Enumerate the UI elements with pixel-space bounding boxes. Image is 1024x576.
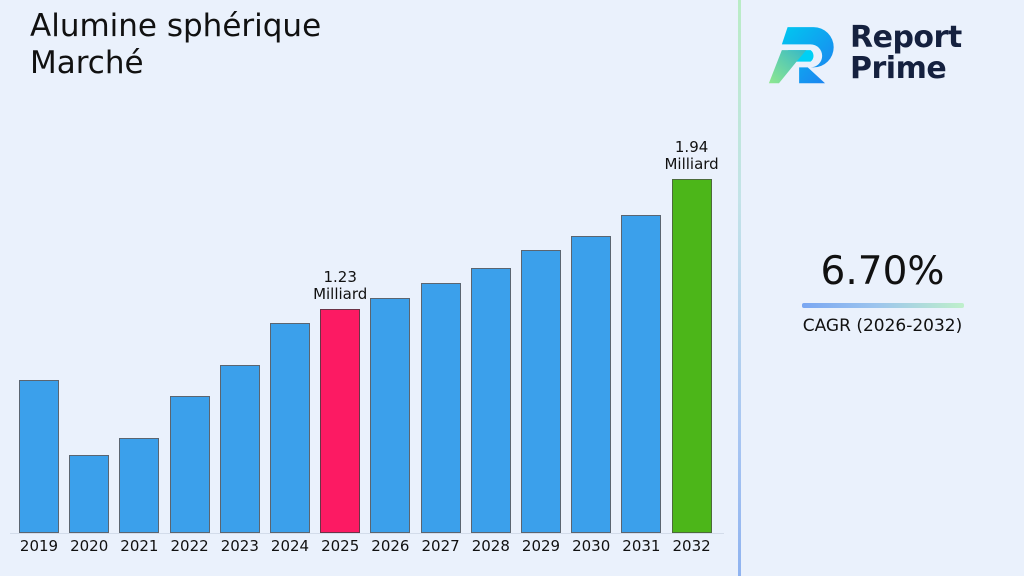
bar-2028[interactable]	[471, 268, 511, 533]
x-axis-label-2029: 2029	[521, 537, 561, 555]
infographic-page: Alumine sphérique Marché 201920202021202…	[0, 0, 1024, 576]
chart-panel: Alumine sphérique Marché 201920202021202…	[0, 0, 738, 576]
x-axis-label-2022: 2022	[170, 537, 210, 555]
x-axis-label-2025: 2025	[320, 537, 360, 555]
x-axis-label-2021: 2021	[119, 537, 159, 555]
brand-name: Report Prime	[850, 22, 962, 85]
x-axis-label-2026: 2026	[370, 537, 410, 555]
x-axis-label-2030: 2030	[571, 537, 611, 555]
x-axis-label-2031: 2031	[621, 537, 661, 555]
x-axis-line	[10, 533, 724, 534]
bar-chart: 2019202020212022202320241.23 Milliard202…	[0, 0, 738, 576]
bar-value-label-2025: 1.23 Milliard	[313, 269, 367, 303]
x-axis-label-2028: 2028	[471, 537, 511, 555]
summary-panel: Report Prime 6.70% CAGR (2026-2032)	[741, 0, 1024, 576]
x-axis-label-2023: 2023	[220, 537, 260, 555]
report-prime-logo-mark	[766, 17, 838, 89]
brand-logo: Report Prime	[766, 12, 1024, 94]
bar-2024[interactable]	[270, 323, 310, 533]
x-axis-label-2019: 2019	[19, 537, 59, 555]
bar-2026[interactable]	[370, 298, 410, 533]
x-axis-label-2027: 2027	[421, 537, 461, 555]
bar-2031[interactable]	[621, 215, 661, 533]
bar-2020[interactable]	[69, 455, 109, 533]
bar-2021[interactable]	[119, 438, 159, 533]
cagr-block: 6.70% CAGR (2026-2032)	[741, 252, 1024, 336]
bar-value-label-2032: 1.94 Milliard	[664, 139, 718, 173]
bar-2032[interactable]	[672, 179, 712, 533]
bar-2027[interactable]	[421, 283, 461, 533]
bar-2022[interactable]	[170, 396, 210, 533]
bar-2030[interactable]	[571, 236, 611, 533]
cagr-label: CAGR (2026-2032)	[741, 316, 1024, 336]
bar-2025[interactable]	[320, 309, 360, 533]
bar-2019[interactable]	[19, 380, 59, 533]
bar-2023[interactable]	[220, 365, 260, 533]
x-axis-label-2024: 2024	[270, 537, 310, 555]
x-axis-label-2032: 2032	[672, 537, 712, 555]
bar-2029[interactable]	[521, 250, 561, 533]
x-axis-label-2020: 2020	[69, 537, 109, 555]
cagr-value: 6.70%	[741, 252, 1024, 291]
cagr-divider-rule	[802, 303, 964, 308]
